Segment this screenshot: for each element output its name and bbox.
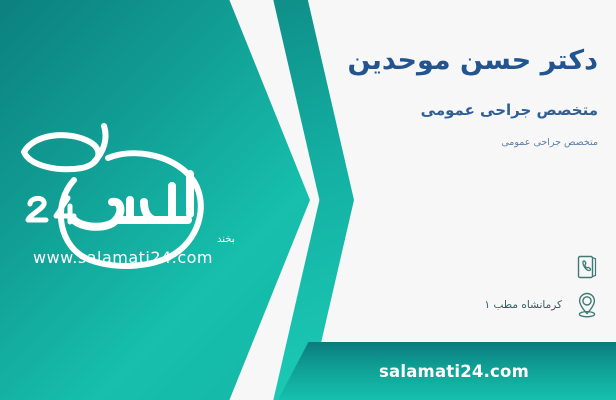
contact-label-location: کرمانشاه مطب ۱: [485, 299, 564, 312]
logo-tagline: براحتی یک لبخند: [217, 234, 234, 245]
contact-row-location[interactable]: کرمانشاه مطب ۱: [322, 286, 602, 324]
contact-list: کرمانشاه مطب ۱: [322, 248, 602, 324]
doctor-profile-card: براحتی یک لبخند www.salamati24.com دکتر …: [0, 0, 616, 400]
footer-website: salamati24.com: [365, 362, 529, 381]
logo-website: www.salamati24.com: [33, 248, 213, 267]
phone-book-icon[interactable]: [572, 251, 602, 283]
doctor-name: دکتر حسن موحدین: [328, 44, 598, 78]
doctor-specialty: متخصص جراحی عمومی: [328, 100, 598, 121]
doctor-info-column: دکتر حسن موحدین متخصص جراحی عمومی متخصص …: [310, 0, 616, 400]
doctor-specialty-secondary: متخصص جراحی عمومی: [328, 136, 598, 149]
footer-bar[interactable]: salamati24.com: [278, 342, 616, 400]
salamati24-logo[interactable]: براحتی یک لبخند www.salamati24.com: [12, 108, 234, 276]
location-pin-icon[interactable]: [572, 289, 602, 321]
contact-row-phone[interactable]: [322, 248, 602, 286]
